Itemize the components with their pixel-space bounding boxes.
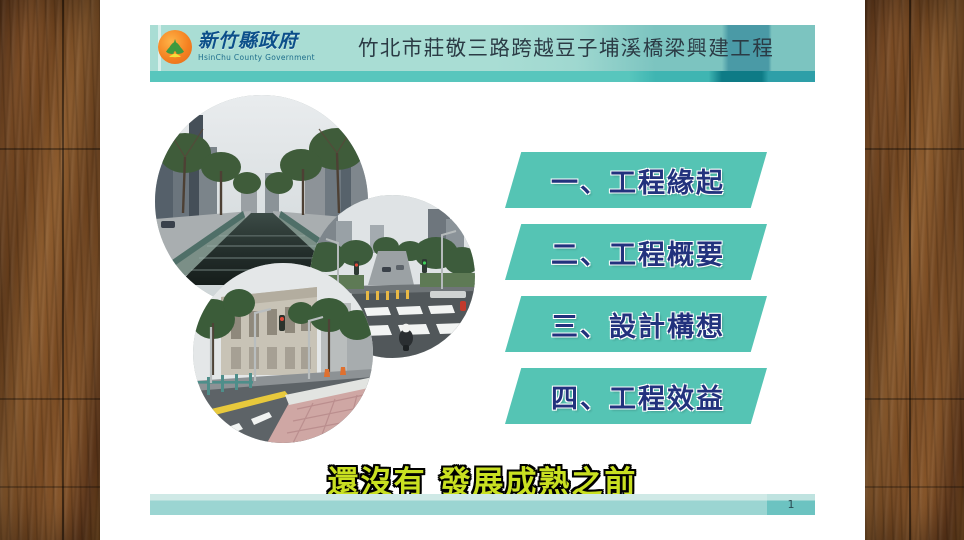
logo-name-chinese: 新竹縣政府: [198, 32, 315, 51]
logo-name-english: HsinChu County Government: [198, 54, 315, 62]
slide-screenshot: 新竹縣政府 HsinChu County Government 竹北市莊敬三路跨…: [0, 0, 964, 540]
menu-item-2[interactable]: 二、工程概要: [505, 224, 767, 280]
page-number: 1: [788, 498, 795, 511]
menu-item-label: 三、設計構想: [547, 305, 725, 344]
streetscape-building-photo: [193, 263, 373, 443]
presentation-slide: 新竹縣政府 HsinChu County Government 竹北市莊敬三路跨…: [100, 0, 865, 540]
menu-item-3[interactable]: 三、設計構想: [505, 296, 767, 352]
slide-title: 竹北市莊敬三路跨越豆子埔溪橋梁興建工程: [358, 25, 774, 71]
menu-item-1[interactable]: 一、工程緣起: [505, 152, 767, 208]
slide-header-bar: 新竹縣政府 HsinChu County Government 竹北市莊敬三路跨…: [150, 25, 815, 82]
logo-text-block: 新竹縣政府 HsinChu County Government: [198, 32, 315, 62]
menu-item-label: 四、工程效益: [547, 377, 725, 416]
wood-background-right: [865, 0, 964, 540]
header-accent-band: [150, 71, 815, 82]
photo-collage: [155, 95, 475, 450]
page-number-box: 1: [767, 494, 815, 515]
agenda-menu: 一、工程緣起 二、工程概要 三、設計構想 四、工程效益: [505, 152, 805, 440]
county-government-logo: 新竹縣政府 HsinChu County Government: [158, 30, 315, 64]
streetscape-building-illustration: [193, 263, 373, 443]
wood-plank-seam: [909, 0, 911, 540]
wood-plank-seam: [62, 0, 64, 540]
menu-item-label: 二、工程概要: [547, 233, 725, 272]
leaf-glyph: [160, 33, 190, 63]
wood-background-left: [0, 0, 100, 540]
sun-leaf-logo-icon: [158, 30, 192, 64]
slide-footer-bar: 1: [150, 494, 815, 515]
menu-item-4[interactable]: 四、工程效益: [505, 368, 767, 424]
menu-item-label: 一、工程緣起: [547, 161, 725, 200]
